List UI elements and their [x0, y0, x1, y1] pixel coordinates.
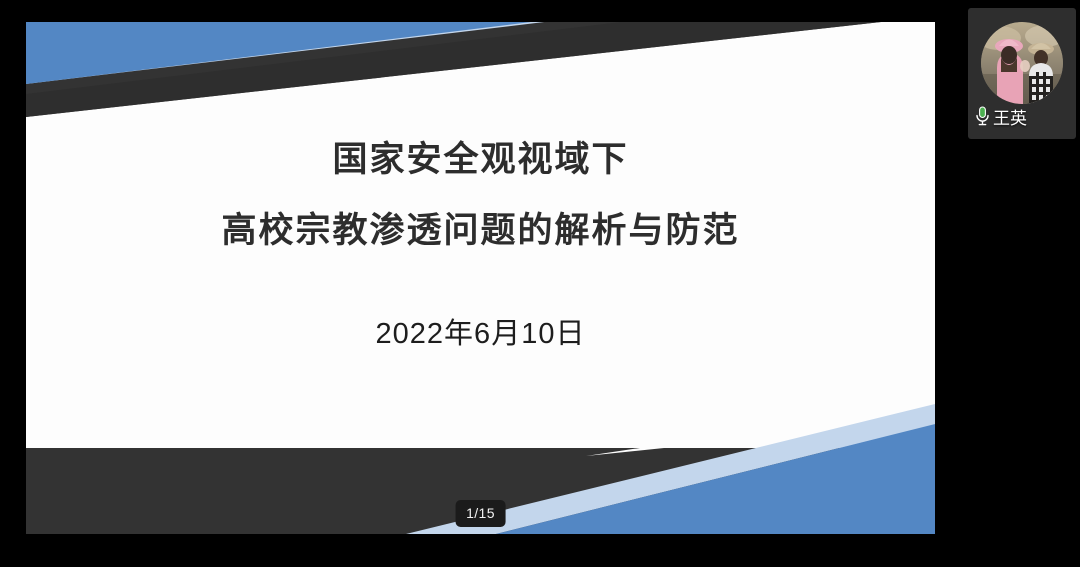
microphone-icon	[975, 106, 990, 131]
slide-title-line-2: 高校宗教渗透问题的解析与防范	[26, 213, 935, 248]
page-indicator: 1/15	[455, 500, 506, 527]
slide-date: 2022年6月10日	[26, 310, 935, 352]
participant-tile[interactable]: 王英	[968, 8, 1076, 139]
screen-share-stage[interactable]: 国家安全观视域下 高校宗教渗透问题的解析与防范 2022年6月10日 1/15	[0, 0, 960, 567]
slide-text-block: 国家安全观视域下 高校宗教渗透问题的解析与防范 2022年6月10日	[26, 142, 935, 352]
participant-label: 王英	[975, 106, 1027, 131]
presentation-slide[interactable]: 国家安全观视域下 高校宗教渗透问题的解析与防范 2022年6月10日 1/15	[26, 22, 935, 534]
participant-rail: 王英	[960, 0, 1080, 567]
slide-title-line-1: 国家安全观视域下	[26, 142, 935, 177]
meeting-screen-share-view: 国家安全观视域下 高校宗教渗透问题的解析与防范 2022年6月10日 1/15	[0, 0, 1080, 567]
participant-name: 王英	[993, 110, 1027, 127]
avatar	[981, 22, 1063, 104]
